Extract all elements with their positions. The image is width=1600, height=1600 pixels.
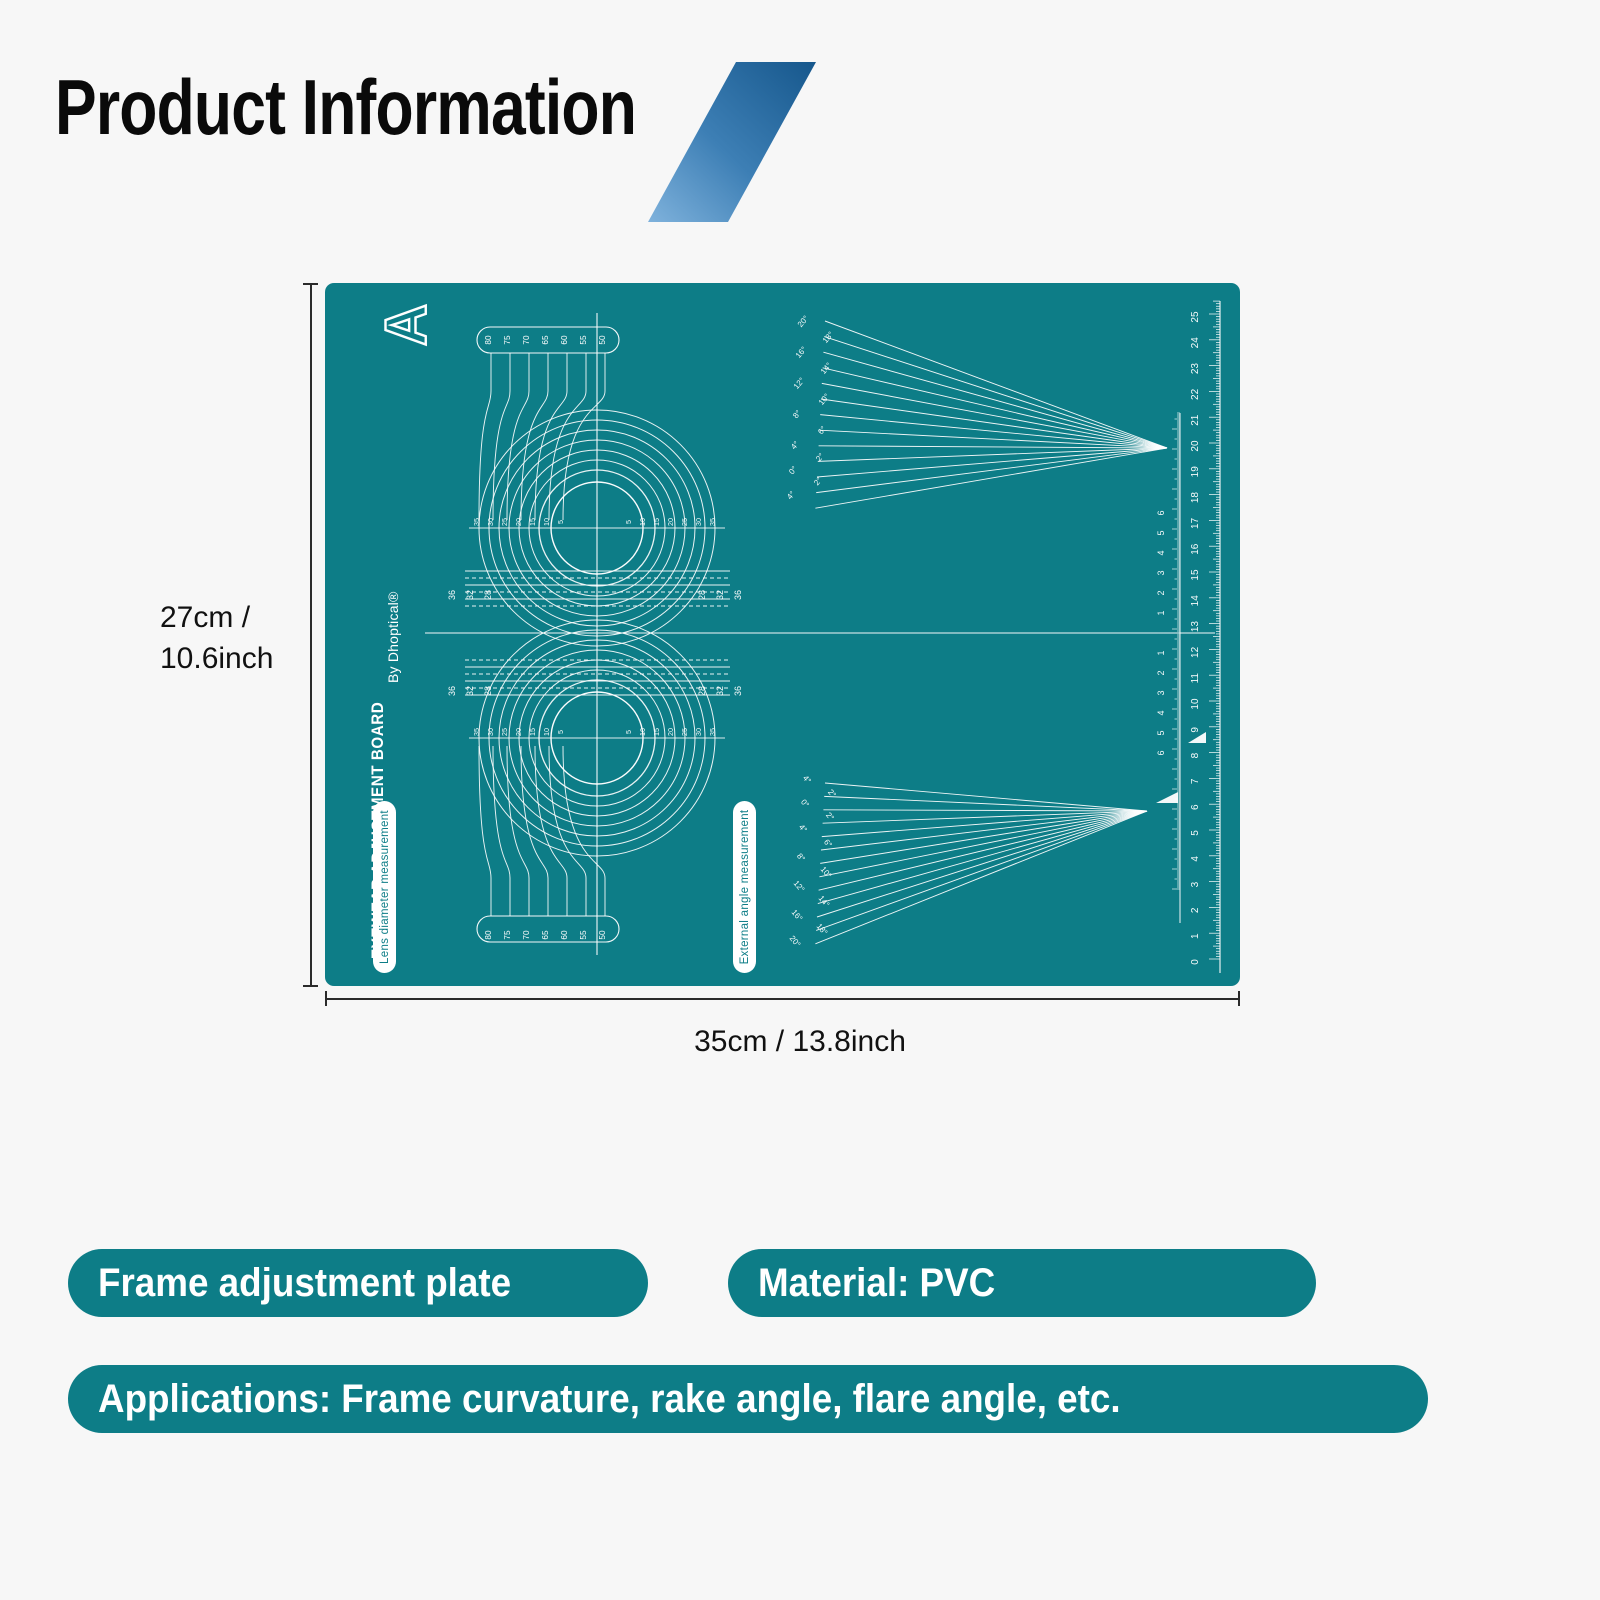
- svg-text:0°: 0°: [787, 465, 799, 477]
- svg-text:23: 23: [1190, 363, 1201, 375]
- svg-text:32: 32: [465, 686, 475, 696]
- svg-text:2: 2: [1156, 590, 1166, 595]
- svg-text:35: 35: [472, 518, 481, 526]
- width-dimension-cap-right: [1238, 991, 1240, 1006]
- badge-material: Material: PVC: [728, 1249, 1316, 1317]
- svg-text:28: 28: [697, 686, 707, 696]
- svg-text:5: 5: [1190, 830, 1201, 836]
- svg-text:15: 15: [528, 728, 537, 736]
- svg-text:20: 20: [514, 518, 523, 526]
- svg-text:10: 10: [638, 728, 647, 736]
- svg-text:14: 14: [1190, 595, 1201, 607]
- svg-text:28: 28: [483, 686, 493, 696]
- svg-text:24: 24: [1190, 337, 1201, 349]
- svg-text:15: 15: [1190, 569, 1201, 581]
- svg-text:4°: 4°: [789, 440, 801, 452]
- svg-text:15: 15: [528, 518, 537, 526]
- svg-text:55: 55: [579, 930, 588, 940]
- svg-text:50: 50: [598, 335, 607, 345]
- svg-text:2: 2: [1190, 907, 1201, 913]
- svg-text:5: 5: [624, 730, 633, 734]
- svg-text:18°: 18°: [815, 922, 830, 937]
- svg-text:18: 18: [1190, 492, 1201, 504]
- svg-text:1: 1: [1190, 933, 1201, 939]
- page-title: Product Information: [55, 62, 636, 153]
- svg-text:2: 2: [1156, 670, 1166, 675]
- svg-text:14°: 14°: [819, 361, 834, 376]
- svg-text:20: 20: [514, 728, 523, 736]
- badge-2-text: Material: PVC: [758, 1261, 995, 1306]
- svg-text:75: 75: [503, 335, 512, 345]
- badge-3-text: Applications: Frame curvature, rake angl…: [98, 1377, 1121, 1422]
- svg-text:20: 20: [666, 728, 675, 736]
- svg-text:28: 28: [483, 590, 493, 600]
- svg-text:20°: 20°: [796, 314, 811, 329]
- badge-applications: Applications: Frame curvature, rake angl…: [68, 1365, 1428, 1433]
- svg-text:22: 22: [1190, 388, 1201, 400]
- height-dimension-label: 27cm / 10.6inch: [160, 598, 273, 679]
- svg-text:70: 70: [522, 930, 531, 940]
- svg-text:60: 60: [560, 335, 569, 345]
- svg-text:4°: 4°: [797, 823, 809, 835]
- svg-text:10°: 10°: [819, 865, 834, 880]
- height-dimension-line: [310, 283, 312, 986]
- svg-text:18°: 18°: [821, 330, 836, 345]
- eyewear-adjustment-board: 3530252015105510152025303535302520151055…: [325, 283, 1240, 986]
- svg-text:65: 65: [541, 930, 550, 940]
- svg-text:10°: 10°: [817, 392, 832, 407]
- board-letter-a: A: [373, 304, 440, 346]
- svg-text:9: 9: [1190, 727, 1201, 733]
- svg-text:80: 80: [484, 335, 493, 345]
- svg-text:20°: 20°: [788, 934, 803, 949]
- svg-text:25: 25: [500, 518, 509, 526]
- svg-text:25: 25: [680, 728, 689, 736]
- svg-text:10: 10: [638, 518, 647, 526]
- svg-text:3: 3: [1156, 570, 1166, 575]
- svg-text:12°: 12°: [792, 376, 807, 391]
- label-lens-diameter-measurement: Lens diameter measurement: [373, 801, 396, 973]
- svg-text:5: 5: [624, 520, 633, 524]
- svg-text:30: 30: [694, 728, 703, 736]
- svg-text:28: 28: [697, 590, 707, 600]
- svg-text:5: 5: [556, 520, 565, 524]
- svg-text:6: 6: [1156, 510, 1166, 515]
- svg-text:35: 35: [708, 728, 717, 736]
- svg-text:35: 35: [472, 728, 481, 736]
- svg-text:2°: 2°: [824, 811, 836, 823]
- svg-text:6°: 6°: [816, 425, 828, 437]
- board-graphics: 3530252015105510152025303535302520151055…: [325, 283, 1240, 986]
- svg-text:55: 55: [579, 335, 588, 345]
- svg-text:4: 4: [1156, 710, 1166, 715]
- svg-text:20: 20: [1190, 440, 1201, 452]
- svg-text:14°: 14°: [817, 894, 832, 909]
- svg-text:11: 11: [1190, 673, 1201, 684]
- svg-text:10: 10: [1190, 698, 1201, 710]
- svg-text:3: 3: [1190, 881, 1201, 887]
- svg-text:5: 5: [1156, 730, 1166, 735]
- svg-text:4°: 4°: [801, 774, 813, 786]
- badge-frame-adjustment-plate: Frame adjustment plate: [68, 1249, 648, 1317]
- svg-text:3: 3: [1156, 690, 1166, 695]
- svg-text:0: 0: [1190, 959, 1201, 965]
- svg-text:8°: 8°: [791, 409, 803, 421]
- svg-text:15: 15: [652, 728, 661, 736]
- svg-text:12: 12: [1190, 646, 1201, 658]
- svg-text:7: 7: [1190, 778, 1201, 784]
- badge-1-text: Frame adjustment plate: [98, 1261, 511, 1306]
- svg-text:1: 1: [1156, 610, 1166, 615]
- svg-text:65: 65: [541, 335, 550, 345]
- height-dimension-line-2: 10.6inch: [160, 639, 273, 680]
- svg-text:6: 6: [1190, 804, 1201, 810]
- svg-text:8: 8: [1190, 752, 1201, 758]
- svg-text:12°: 12°: [792, 879, 807, 894]
- svg-text:0°: 0°: [799, 798, 811, 810]
- svg-text:10: 10: [542, 518, 551, 526]
- svg-text:2°: 2°: [826, 788, 838, 800]
- svg-text:20: 20: [666, 518, 675, 526]
- svg-text:1: 1: [1156, 650, 1166, 655]
- svg-text:8°: 8°: [795, 852, 807, 864]
- svg-text:17: 17: [1190, 517, 1201, 529]
- svg-text:80: 80: [484, 930, 493, 940]
- svg-text:16°: 16°: [794, 345, 809, 360]
- svg-text:50: 50: [598, 930, 607, 940]
- height-dimension-line-1: 27cm /: [160, 598, 273, 639]
- svg-text:19: 19: [1190, 466, 1201, 478]
- svg-text:36: 36: [733, 590, 743, 600]
- svg-text:30: 30: [486, 518, 495, 526]
- svg-text:4: 4: [1156, 550, 1166, 555]
- svg-text:2°: 2°: [812, 476, 824, 488]
- svg-text:4: 4: [1190, 856, 1201, 862]
- svg-text:30: 30: [486, 728, 495, 736]
- width-dimension-cap-left: [325, 991, 327, 1006]
- svg-text:16: 16: [1190, 543, 1201, 555]
- svg-text:30: 30: [694, 518, 703, 526]
- svg-text:32: 32: [715, 686, 725, 696]
- svg-text:5: 5: [556, 730, 565, 734]
- title-accent-slash: [648, 62, 816, 222]
- svg-text:60: 60: [560, 930, 569, 940]
- svg-text:6°: 6°: [822, 838, 834, 850]
- svg-text:13: 13: [1190, 621, 1201, 633]
- svg-text:21: 21: [1190, 414, 1201, 426]
- svg-text:5: 5: [1156, 530, 1166, 535]
- width-dimension-label: 35cm / 13.8inch: [0, 1025, 1600, 1059]
- svg-text:70: 70: [522, 335, 531, 345]
- page-header: Product Information: [0, 0, 1600, 240]
- svg-text:35: 35: [708, 518, 717, 526]
- width-dimension-line: [325, 998, 1240, 1000]
- svg-text:36: 36: [733, 686, 743, 696]
- svg-text:25: 25: [500, 728, 509, 736]
- height-dimension-cap-top: [303, 283, 318, 285]
- svg-text:6: 6: [1156, 750, 1166, 755]
- svg-text:32: 32: [715, 590, 725, 600]
- svg-text:32: 32: [465, 590, 475, 600]
- svg-text:4°: 4°: [785, 490, 797, 502]
- height-dimension-cap-bottom: [303, 985, 318, 987]
- svg-text:10: 10: [542, 728, 551, 736]
- svg-text:36: 36: [447, 590, 457, 600]
- board-brand-subtitle: By Dhoptical®: [385, 591, 401, 683]
- svg-text:16°: 16°: [790, 908, 805, 923]
- svg-text:15: 15: [652, 518, 661, 526]
- svg-text:25: 25: [1190, 311, 1201, 323]
- svg-text:36: 36: [447, 686, 457, 696]
- label-external-angle-measurement: External angle measurement: [733, 801, 756, 973]
- svg-text:75: 75: [503, 930, 512, 940]
- svg-text:25: 25: [680, 518, 689, 526]
